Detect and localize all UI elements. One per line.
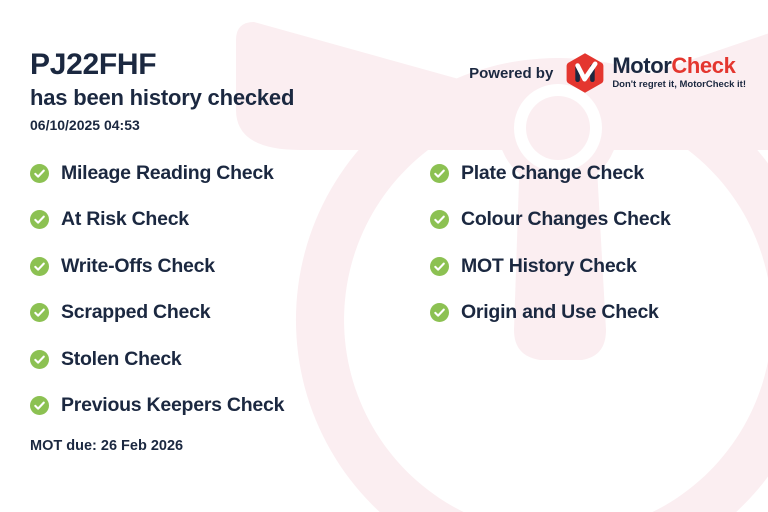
status-line: has been history checked <box>30 84 294 112</box>
check-item-mileage-reading: Mileage Reading Check <box>30 150 365 197</box>
check-label: Scrapped Check <box>61 301 210 324</box>
powered-by-block: Powered by MotorCheck Don't regret it, M… <box>469 52 746 94</box>
green-circle-check-icon <box>30 396 49 415</box>
check-item-at-risk: At Risk Check <box>30 197 365 244</box>
motorcheck-hexagon-m-check-icon <box>565 52 605 94</box>
mot-due-text: MOT due: 26 Feb 2026 <box>30 438 183 454</box>
check-label: At Risk Check <box>61 208 189 231</box>
wordmark-text: MotorCheck <box>612 55 746 77</box>
check-item-origin-and-use: Origin and Use Check <box>430 290 768 337</box>
checks-right-column: Plate Change Check Colour Changes Check … <box>365 150 768 429</box>
check-label: Origin and Use Check <box>461 301 659 324</box>
check-label: Previous Keepers Check <box>61 394 284 417</box>
motorcheck-logo[interactable]: MotorCheck Don't regret it, MotorCheck i… <box>565 52 746 94</box>
green-circle-check-icon <box>30 257 49 276</box>
green-circle-check-icon <box>430 303 449 322</box>
checks-left-column: Mileage Reading Check At Risk Check Writ… <box>0 150 365 429</box>
check-item-plate-change: Plate Change Check <box>430 150 768 197</box>
green-circle-check-icon <box>30 164 49 183</box>
green-circle-check-icon <box>430 210 449 229</box>
wordmark-motor: Motor <box>612 53 671 78</box>
check-item-scrapped: Scrapped Check <box>30 290 365 337</box>
green-circle-check-icon <box>30 350 49 369</box>
check-label: Write-Offs Check <box>61 255 215 278</box>
footer: MOT due: 26 Feb 2026 <box>30 437 183 455</box>
check-label: MOT History Check <box>461 255 637 278</box>
check-item-stolen: Stolen Check <box>30 336 365 383</box>
motorcheck-wordmark: MotorCheck Don't regret it, MotorCheck i… <box>612 55 746 91</box>
check-item-mot-history: MOT History Check <box>430 243 768 290</box>
vehicle-history-check-card: PJ22FHF has been history checked 06/10/2… <box>0 0 768 512</box>
green-circle-check-icon <box>430 164 449 183</box>
registration-plate: PJ22FHF <box>30 47 294 83</box>
check-item-colour-changes: Colour Changes Check <box>430 197 768 244</box>
title-block: PJ22FHF has been history checked 06/10/2… <box>30 47 294 135</box>
check-label: Colour Changes Check <box>461 208 671 231</box>
checks-grid: Mileage Reading Check At Risk Check Writ… <box>0 150 768 429</box>
green-circle-check-icon <box>30 303 49 322</box>
header: PJ22FHF has been history checked 06/10/2… <box>0 0 768 140</box>
check-label: Plate Change Check <box>461 162 644 185</box>
green-circle-check-icon <box>30 210 49 229</box>
green-circle-check-icon <box>430 257 449 276</box>
check-item-write-offs: Write-Offs Check <box>30 243 365 290</box>
check-item-previous-keepers: Previous Keepers Check <box>30 383 365 430</box>
check-label: Mileage Reading Check <box>61 162 274 185</box>
check-label: Stolen Check <box>61 348 182 371</box>
check-timestamp: 06/10/2025 04:53 <box>30 115 294 135</box>
powered-by-label: Powered by <box>469 65 553 82</box>
wordmark-check: Check <box>671 53 735 78</box>
brand-tagline: Don't regret it, MotorCheck it! <box>612 79 746 91</box>
